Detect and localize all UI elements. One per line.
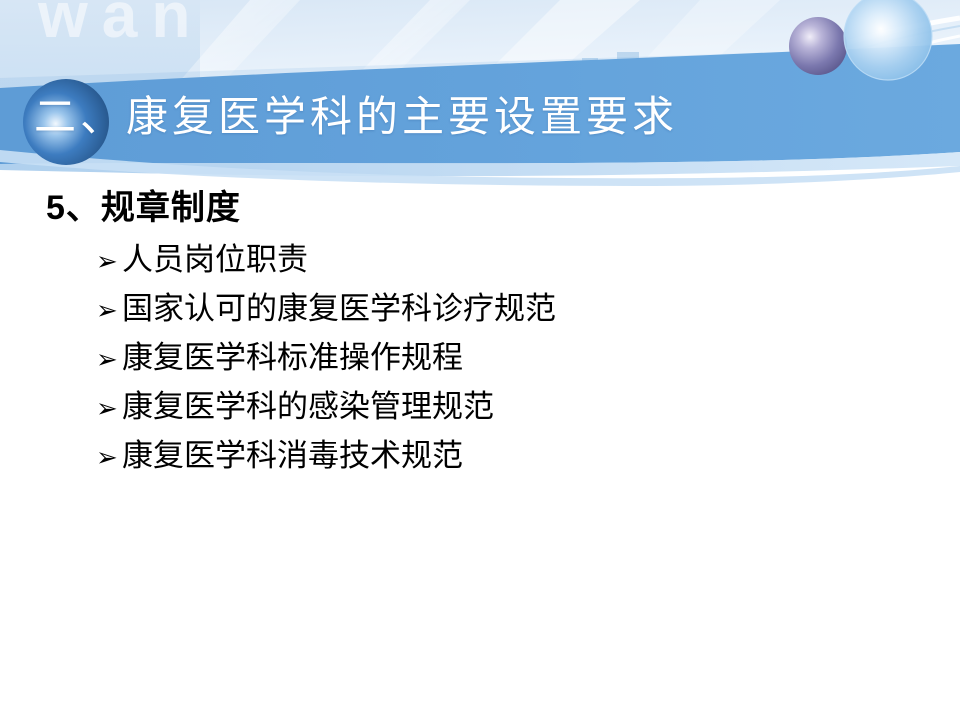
bullet-list: ➢ 人员岗位职责 ➢ 国家认可的康复医学科诊疗规范 ➢ 康复医学科标准操作规程 …	[0, 236, 960, 481]
list-item-label: 康复医学科的感染管理规范	[122, 383, 494, 431]
list-item-label: 康复医学科消毒技术规范	[122, 432, 463, 480]
list-item: ➢ 康复医学科的感染管理规范	[96, 383, 960, 432]
presentation-slide: wan 二、康复医学科的主要设置要求 5、规章制度 ➢ 人员岗位职责 ➢ 国家认…	[0, 0, 960, 720]
list-item: ➢ 康复医学科标准操作规程	[96, 334, 960, 383]
list-item-label: 国家认可的康复医学科诊疗规范	[122, 285, 556, 333]
list-item: ➢ 国家认可的康复医学科诊疗规范	[96, 285, 960, 334]
slide-title: 二、康复医学科的主要设置要求	[34, 94, 678, 142]
arrow-bullet-icon: ➢	[96, 433, 122, 481]
list-item: ➢ 康复医学科消毒技术规范	[96, 432, 960, 481]
section-heading: 5、规章制度	[46, 186, 960, 230]
slide-body: 5、规章制度 ➢ 人员岗位职责 ➢ 国家认可的康复医学科诊疗规范 ➢ 康复医学科…	[0, 186, 960, 481]
list-item-label: 人员岗位职责	[122, 236, 308, 284]
arrow-bullet-icon: ➢	[96, 384, 122, 432]
list-item: ➢ 人员岗位职责	[96, 236, 960, 285]
arrow-bullet-icon: ➢	[96, 335, 122, 383]
list-item-label: 康复医学科标准操作规程	[122, 334, 463, 382]
arrow-bullet-icon: ➢	[96, 237, 122, 285]
arrow-bullet-icon: ➢	[96, 286, 122, 334]
